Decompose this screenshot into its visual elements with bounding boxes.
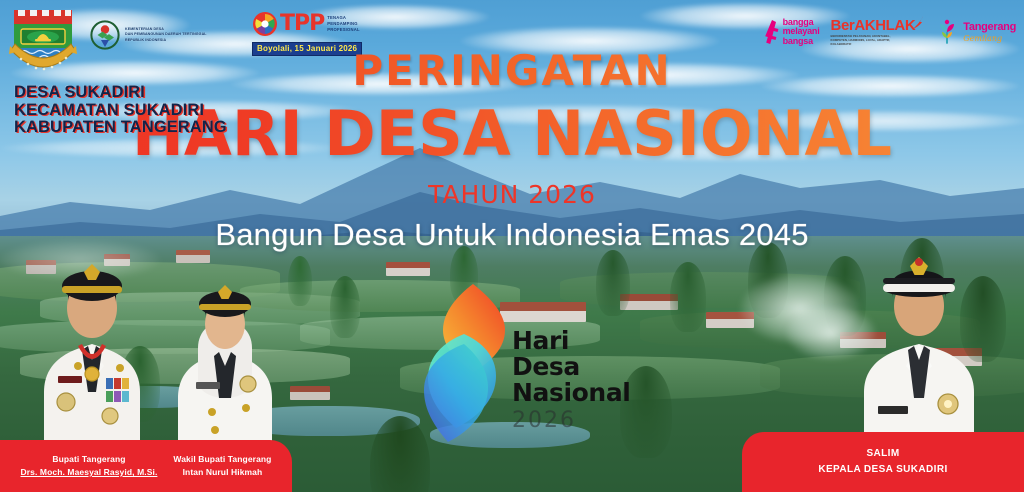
tangerang-name: Tangerang xyxy=(963,22,1016,33)
right-logo-group: bangga melayani bangsa BerAKHLAK BERORIE… xyxy=(764,10,1016,54)
bangga-line-3: bangsa xyxy=(783,37,820,46)
event-banner: KEMENTERIAN DESA DAN PEMBANGUNAN DAERAH … xyxy=(0,0,1024,492)
kepala-desa-nameplate: SALIM KEPALA DESA SUKADIRI xyxy=(810,446,955,478)
wakil-bupati-role: Wakil Bupati Tangerang xyxy=(173,453,271,466)
hdn-word-desa: Desa xyxy=(512,354,630,380)
regency-name: KABUPATEN TANGERANG xyxy=(14,119,227,137)
wakil-bupati-name: Intan Nurul Hikmah xyxy=(173,466,271,479)
wakil-bupati-nameplate: Wakil Bupati Tangerang Intan Nurul Hikma… xyxy=(165,453,279,479)
hdn-word-nasional: Nasional xyxy=(512,380,630,406)
leadership-nameplate-left: Bupati Tangerang Drs. Moch. Maesyal Rasy… xyxy=(0,440,292,492)
bangga-mark-icon xyxy=(764,19,780,45)
kemendes-logo-block: KEMENTERIAN DESA DAN PEMBANGUNAN DAERAH … xyxy=(90,18,220,52)
tpp-sub-line-3: PROFESIONAL xyxy=(327,27,359,33)
leadership-nameplate-right: SALIM KEPALA DESA SUKADIRI xyxy=(742,432,1024,492)
kepala-desa-role: KEPALA DESA SUKADIRI xyxy=(818,462,947,478)
bupati-role: Bupati Tangerang xyxy=(21,453,158,466)
hdn-year: 2026 xyxy=(512,408,630,434)
tpp-subtitle: TENAGA PENDAMPING PROFESIONAL xyxy=(326,15,359,34)
kemendes-logo xyxy=(90,20,120,50)
bupati-name: Drs. Moch. Maesyal Rasyid, M.Si. xyxy=(21,466,158,479)
berakhlak-swoosh-icon xyxy=(912,16,924,30)
bangga-text: bangga melayani bangsa xyxy=(783,18,820,46)
hari-desa-nasional-wordmark: Hari Desa Nasional 2026 xyxy=(512,328,630,434)
tpp-logo xyxy=(252,11,278,37)
village-name: DESA SUKADIRI xyxy=(14,84,227,102)
tangerang-gemilang-logo: Tangerang Gemilang xyxy=(934,19,1016,45)
tangerang-gemilang-mark-icon xyxy=(934,19,960,45)
tpp-letters: TPP xyxy=(280,13,324,35)
kepala-desa-portrait xyxy=(844,240,994,452)
headline-tagline: Bangun Desa Untuk Indonesia Emas 2045 xyxy=(0,218,1024,252)
bangga-melayani-bangsa-logo: bangga melayani bangsa xyxy=(764,18,820,46)
kemendes-logo-text: KEMENTERIAN DESA DAN PEMBANGUNAN DAERAH … xyxy=(125,27,207,43)
bupati-portrait xyxy=(22,242,162,452)
wakil-bupati-portrait xyxy=(160,252,290,452)
bupati-nameplate: Bupati Tangerang Drs. Moch. Maesyal Rasy… xyxy=(13,453,166,479)
hari-desa-nasional-logo: Hari Desa Nasional 2026 xyxy=(408,272,640,452)
kemendes-line-2: DAN PEMBANGUNAN DAERAH TERTINGGAL xyxy=(125,32,207,37)
headline-year: TAHUN 2026 xyxy=(0,182,1024,208)
village-identity-block: DESA SUKADIRI KECAMATAN SUKADIRI KABUPAT… xyxy=(14,84,227,137)
district-name: KECAMATAN SUKADIRI xyxy=(14,102,227,120)
tangerang-tagline: Gemilang xyxy=(963,34,1016,43)
berakhlak-logo: BerAKHLAK BERORIENTASI PELAYANAN, AKUNTA… xyxy=(831,18,924,46)
kepala-desa-name: SALIM xyxy=(818,446,947,462)
kemendes-line-3: REPUBLIK INDONESIA xyxy=(125,38,207,43)
hdn-word-hari: Hari xyxy=(512,328,630,354)
berakhlak-title: BerAKHLAK xyxy=(831,18,916,33)
berakhlak-subtitle: BERORIENTASI PELAYANAN, AKUNTABEL, KOMPE… xyxy=(831,34,905,46)
